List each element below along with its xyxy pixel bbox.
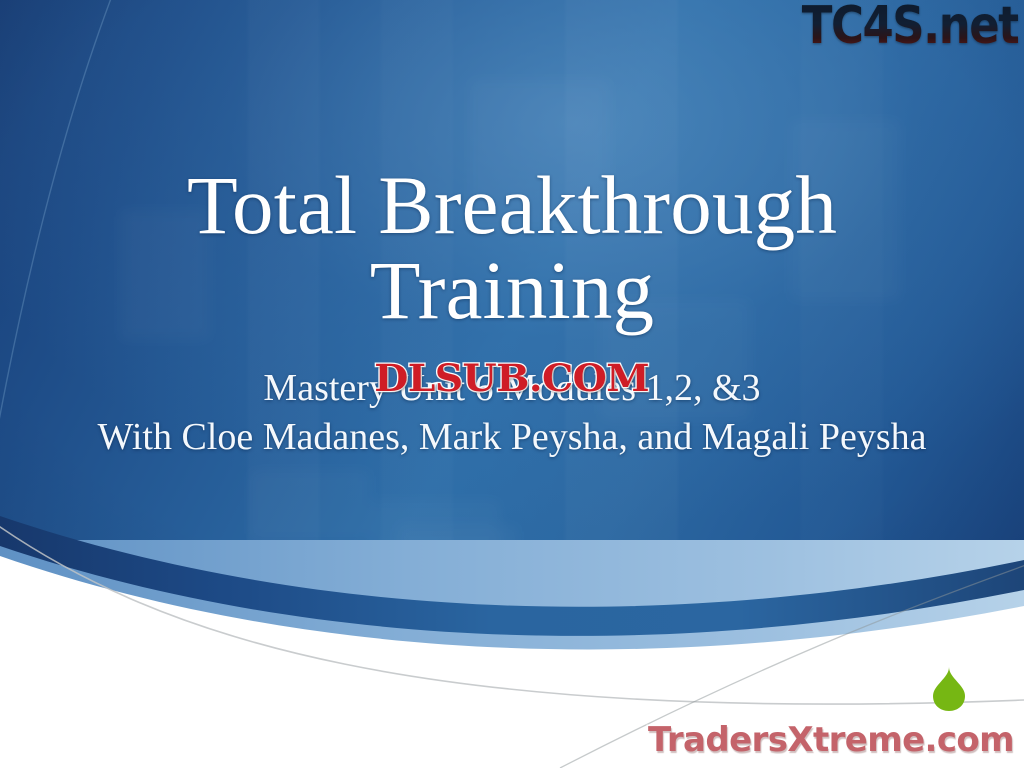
slide-swoosh-graphic — [0, 0, 1024, 768]
droplet-icon — [932, 666, 966, 712]
presentation-slide: Total Breakthrough Training Mastery Unit… — [0, 0, 1024, 768]
